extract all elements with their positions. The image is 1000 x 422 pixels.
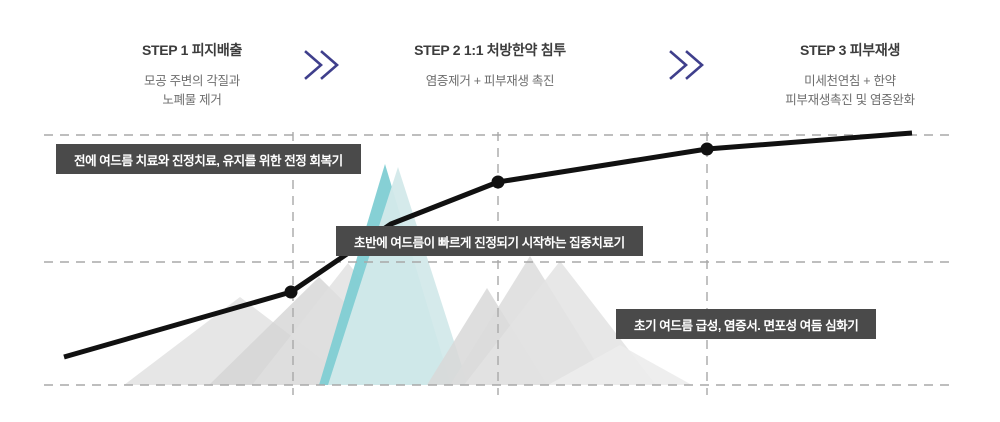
progress-chart bbox=[0, 0, 1000, 422]
callout-intensive-phase: 초반에 여드름이 빠르게 진정되기 시작하는 집중치료기 bbox=[336, 226, 643, 256]
callout-acute-phase: 초기 여드름 급성, 염증서. 면포성 여듬 심화기 bbox=[616, 309, 876, 339]
callout-intensive-phase-text: 초반에 여드름이 빠르게 진정되기 시작하는 집중치료기 bbox=[354, 232, 625, 251]
curve-data-point bbox=[285, 286, 298, 299]
callout-acute-phase-text: 초기 여드름 급성, 염증서. 면포성 여듬 심화기 bbox=[634, 315, 858, 334]
infographic-root: STEP 1 피지배출 모공 주변의 각질과 노폐물 제거 STEP 2 1:1… bbox=[0, 0, 1000, 422]
callout-recovery-phase: 전에 여드름 치료와 진정치료, 유지를 위한 전정 회복기 bbox=[56, 144, 361, 174]
mountain-bands bbox=[124, 164, 692, 385]
callout-recovery-phase-text: 전에 여드름 치료와 진정치료, 유지를 위한 전정 회복기 bbox=[74, 150, 343, 169]
curve-data-point bbox=[492, 176, 505, 189]
curve-data-point bbox=[701, 143, 714, 156]
